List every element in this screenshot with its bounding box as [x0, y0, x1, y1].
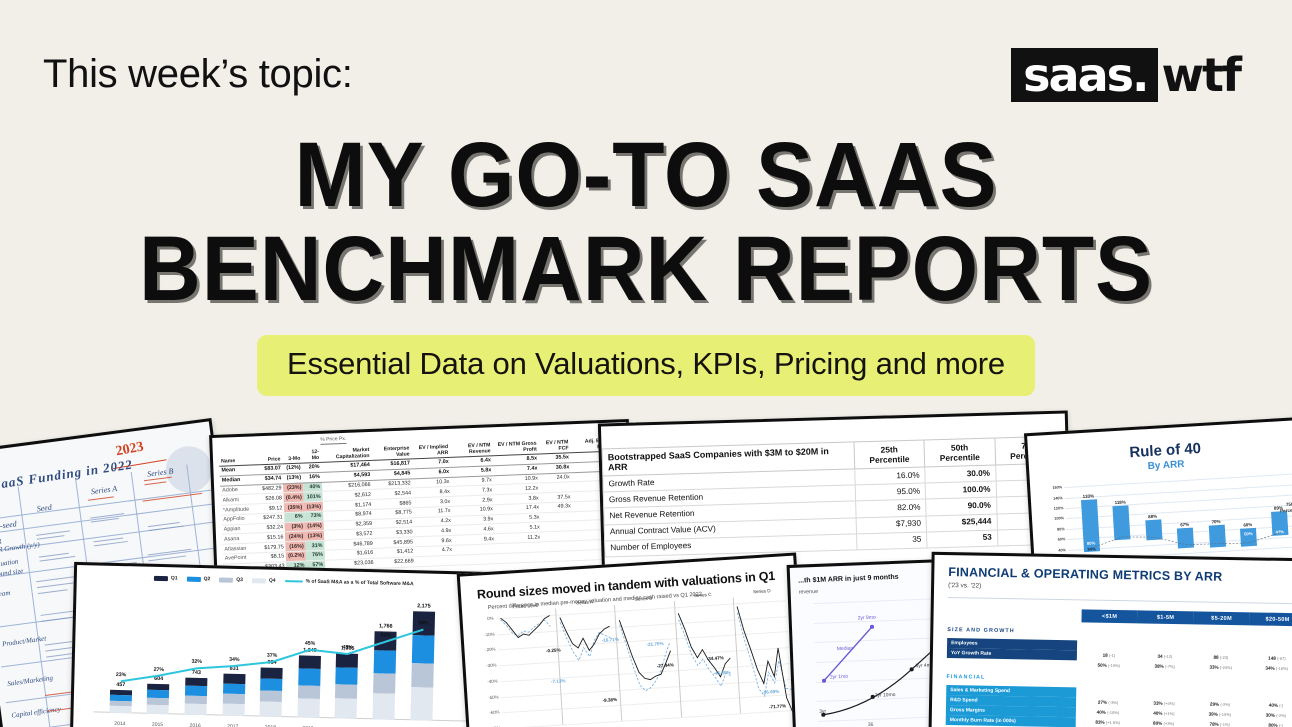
- table-cell: 82.0%: [855, 499, 926, 517]
- r40-y-tick: 140%: [1035, 496, 1063, 502]
- rounds-y-tick: 0%: [466, 616, 493, 623]
- rounds-annotation: -45.89%: [713, 670, 730, 676]
- arr-data-point: [910, 668, 914, 672]
- funding-col-seed: Seed: [36, 503, 52, 514]
- legend-swatch-q4: [252, 578, 266, 583]
- rounds-annotation: -9.38%: [602, 697, 617, 703]
- funding-row-sales-marketing: Sales/Marketing: [7, 674, 54, 688]
- rounds-series-lines: [497, 600, 799, 727]
- legend-item-q4: Q4: [252, 577, 276, 584]
- arr-data-point: [822, 679, 826, 683]
- funding-row-arr-growth: ARR Growth (y/y): [0, 540, 40, 554]
- rounds-annotation: -27.44%: [657, 662, 674, 668]
- fin-section-title: FINANCIAL: [946, 674, 985, 681]
- r40-y-tick: 100%: [1036, 517, 1064, 523]
- legend-swatch-pct-line: [285, 580, 303, 582]
- title-line-2: BENCHMARK REPORTS: [45, 222, 1247, 316]
- rounds-annotation: -21.70%: [646, 641, 663, 647]
- rounds-y-tick: -10%: [467, 631, 494, 638]
- fin-row-label: Monthly Burn Rate (in 000s): [946, 715, 1076, 727]
- doc-round-sizes-chart: Round sizes moved in tandem with valuati…: [457, 553, 808, 727]
- legend-label-q3: Q3: [236, 577, 243, 583]
- th-enterprise-value: Enterprise Value: [371, 444, 412, 460]
- th-p50: 50th Percentile: [924, 438, 995, 467]
- page-title: MY GO-TO SAAS BENCHMARK REPORTS: [0, 128, 1292, 316]
- percentile-table-body: Growth Rate16.0%30.0%48%Gross Revenue Re…: [603, 463, 1068, 557]
- arr-subtitle: revenue: [799, 589, 819, 596]
- th-ev-ntm-rev: EV / NTM Revenue: [450, 441, 493, 457]
- rounds-annotation: -56.69%: [762, 689, 779, 695]
- th-ev-ntm-fcf: EV / NTM FCF: [538, 438, 570, 454]
- fin-value-cell: 27% (-3%): [1080, 699, 1136, 705]
- legend-item-q3: Q3: [219, 576, 243, 583]
- fin-column-header: $5-20M: [1193, 611, 1250, 625]
- logo-dark-part: saas.: [1011, 48, 1157, 102]
- doc-saas-ma-chart: Q1 Q2 Q3 Q4 % of SaaS M&A as a % of Tota…: [70, 562, 494, 727]
- rounds-y-tick: -50%: [471, 694, 498, 701]
- legend-label-q4: Q4: [269, 578, 276, 584]
- ma-percent-line: [93, 593, 488, 727]
- fin-value-cell: 50% (-10%): [1081, 662, 1137, 668]
- fin-value-cell: 40% (-10%): [1080, 709, 1136, 715]
- report-collage: 2023 SaaS Funding in 2022 Pre-seed Seed …: [0, 415, 1292, 727]
- fin-value-cell: 34 (-12): [1137, 653, 1193, 659]
- legend-item-pct-line: % of SaaS M&A as a % of Total Software M…: [285, 578, 414, 587]
- r40-y-tick: 40%: [1038, 548, 1066, 554]
- fin-value-cell: 29% (-2%): [1192, 701, 1248, 707]
- legend-item-q1: Q1: [154, 575, 178, 582]
- table-cell: $7,930: [856, 516, 927, 534]
- r40-plot-area: 160%140%120%100%80%60%40%20%133%80%34%11…: [1064, 469, 1292, 558]
- rounds-annotation: -0.25%: [546, 647, 561, 653]
- fin-grid-area: <$1M$1-5M$5-20M$20-50MSIZE AND GROWTHEmp…: [945, 607, 1292, 727]
- th-p25: 25th Percentile: [854, 440, 925, 469]
- fin-value-cell: 40% (+1%): [1136, 710, 1192, 716]
- th-price: Price: [259, 449, 283, 464]
- fin-column-header: <$1M: [1081, 609, 1138, 623]
- r40-trend-line: [1064, 468, 1292, 563]
- comps-caption: % Price Px.: [320, 436, 346, 445]
- rounds-y-tick: -30%: [469, 663, 496, 670]
- arr-data-point: [870, 625, 874, 629]
- rounds-y-tick: -60%: [472, 710, 499, 717]
- fin-title: FINANCIAL & OPERATING METRICS BY ARR: [948, 565, 1222, 584]
- percentile-table: Bootstrapped SaaS Companies with $3M to …: [602, 436, 1069, 558]
- rounds-plot-area: 0%-10%-20%-30%-40%-50%-60%-70%Priced See…: [497, 600, 793, 722]
- brand-logo: saas. wtf: [1011, 48, 1244, 102]
- arr-point-label: 2yr 1mo: [830, 674, 848, 681]
- fin-value-cell: 83% (+1.5%): [1080, 719, 1136, 725]
- fin-subtitle: ('23 vs. '22): [948, 582, 981, 590]
- fin-value-cell: 38% (-7%): [1137, 663, 1193, 669]
- r40-y-tick: 160%: [1034, 485, 1062, 491]
- funding-row-team: Team: [0, 589, 11, 599]
- fin-section-title: SIZE AND GROWTH: [947, 627, 1015, 634]
- funding-row-product-market: Product/Market: [2, 634, 47, 648]
- arr-x-tick: 36: [868, 722, 874, 727]
- legend-label-q2: Q2: [204, 576, 211, 582]
- legend-item-q2: Q2: [187, 576, 211, 583]
- fin-value-cell: 40% (-): [1248, 702, 1292, 708]
- fin-value-cell: 18 (-1): [1081, 652, 1137, 658]
- arr-point-label: 3yr: [819, 709, 826, 715]
- legend-swatch-q2: [187, 576, 201, 581]
- arr-point-label: 2yr 10mo: [875, 692, 896, 699]
- fin-column-header: $1-5M: [1137, 610, 1194, 624]
- r40-y-tick: 80%: [1037, 527, 1065, 533]
- fin-value-cell: 34% (-16%): [1249, 665, 1292, 671]
- funding-row-capital-efficiency: Capital efficiency: [11, 705, 61, 719]
- ma-plot-area: 457201460420157432016831201798420181,248…: [94, 593, 483, 721]
- rounds-annotation: -16.71%: [602, 637, 619, 643]
- arr-point-label: 2yr 9mo: [858, 615, 876, 622]
- rounds-annotation: -7.13%: [551, 678, 566, 684]
- table-cell: 30.0%: [925, 465, 996, 483]
- fin-divider: [948, 597, 1292, 604]
- kicker-text: This week’s topic:: [43, 52, 353, 97]
- poster-canvas: This week’s topic: saas. wtf MY GO-TO SA…: [0, 0, 1292, 727]
- legend-swatch-q3: [219, 577, 233, 582]
- rounds-y-tick: -20%: [468, 647, 495, 654]
- doc-financial-operating-metrics: FINANCIAL & OPERATING METRICS BY ARR ('2…: [928, 552, 1292, 727]
- fin-value-cell: 148 (-67): [1249, 655, 1292, 661]
- title-line-1: MY GO-TO SAAS: [45, 128, 1247, 222]
- legend-swatch-q1: [154, 575, 168, 580]
- r40-percentile-annotation: 75thPercentile: [1280, 501, 1292, 514]
- funding-col-series-a: Series A: [90, 484, 117, 496]
- r40-y-tick: 120%: [1035, 506, 1063, 512]
- rounds-y-tick: -40%: [470, 678, 497, 685]
- fin-row-label: YoY Growth Rate: [947, 648, 1077, 660]
- r40-y-tick: 60%: [1037, 537, 1065, 543]
- fin-column-header: $20-50M: [1249, 612, 1292, 626]
- rounds-annotation: -34.47%: [707, 655, 724, 661]
- fin-value-cell: 80% (+3%): [1136, 720, 1192, 726]
- table-cell: 95.0%: [855, 483, 926, 501]
- legend-label-pct-line: % of SaaS M&A as a % of Total Software M…: [306, 579, 414, 588]
- logo-light-part: wtf: [1158, 48, 1245, 102]
- fin-value-cell: 88 (-23): [1193, 654, 1249, 660]
- fin-value-cell: 78% (-1%): [1192, 721, 1248, 727]
- table-cell: 53: [927, 530, 998, 548]
- th-name: Name: [219, 450, 259, 466]
- arr-median-label: Median: [837, 646, 854, 653]
- table-cell: $25,444: [926, 514, 997, 532]
- ma-legend: Q1 Q2 Q3 Q4 % of SaaS M&A as a % of Tota…: [154, 575, 414, 587]
- fin-value-cell: 80% (-): [1248, 722, 1292, 727]
- funding-row-round-size: Round size: [0, 567, 24, 579]
- fin-value-cell: 33% (+4%): [1136, 700, 1192, 706]
- subtitle-banner: Essential Data on Valuations, KPIs, Pric…: [257, 335, 1035, 396]
- th-ev-arr: EV / Implied ARR: [411, 443, 450, 459]
- legend-label-q1: Q1: [171, 575, 178, 581]
- fin-value-cell: 33% (-24%): [1193, 664, 1249, 670]
- table-cell: 90.0%: [926, 497, 997, 515]
- th-3mo: 3-Mo: [282, 449, 302, 464]
- table-cell: 100.0%: [925, 481, 996, 499]
- table-cell: 16.0%: [855, 467, 926, 485]
- fin-value-cell: 30% (-2%): [1248, 712, 1292, 718]
- th-12mo: 12-Mo: [302, 448, 321, 463]
- fin-value-cell: 39% (-10%): [1192, 711, 1248, 717]
- table-cell: 35: [856, 532, 927, 550]
- rounds-annotation: -71.77%: [769, 704, 786, 710]
